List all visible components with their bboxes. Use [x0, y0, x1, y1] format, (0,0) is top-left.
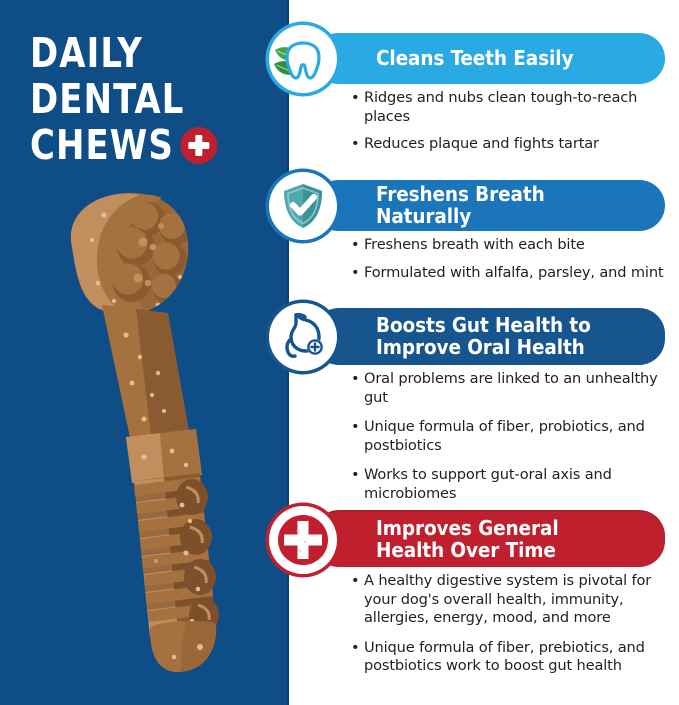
feature-title-freshens-breath: Freshens Breath Naturally	[376, 184, 645, 227]
infographic-poster: DAILY DENTAL CHEWS	[0, 0, 679, 705]
plus-icon	[181, 127, 218, 164]
feature-header-freshens-breath: Freshens Breath Naturally	[313, 180, 665, 231]
feature-title-line-2: Health Over Time	[376, 540, 559, 562]
title-line-3-wrap: CHEWS	[30, 122, 251, 168]
list-item: Works to support gut-oral axis and micro…	[351, 466, 669, 503]
list-item: Formulated with alfalfa, parsley, and mi…	[351, 264, 669, 283]
feature-bullets-cleans-teeth: Ridges and nubs clean tough-to-reach pla…	[351, 89, 669, 163]
title-line-2: DENTAL	[30, 76, 251, 122]
feature-header-improves-general-health: Improves General Health Over Time	[313, 510, 665, 567]
features-column: Cleans Teeth Easily Ridges and nubs clea…	[289, 0, 679, 705]
title-line-1: DAILY	[30, 30, 251, 76]
title-line-3: CHEWS	[30, 122, 174, 168]
stomach-plus-icon	[269, 303, 337, 371]
list-item: Reduces plaque and fights tartar	[351, 135, 669, 154]
medical-cross-icon	[269, 506, 337, 574]
chew-ridges	[134, 473, 219, 637]
list-item: Oral problems are linked to an unhealthy…	[351, 370, 669, 407]
list-item: Unique formula of fiber, probiotics, and…	[351, 418, 669, 455]
feature-header-cleans-teeth: Cleans Teeth Easily	[313, 33, 665, 84]
list-item: A healthy digestive system is pivotal fo…	[351, 572, 669, 628]
list-item: Ridges and nubs clean tough-to-reach pla…	[351, 89, 669, 126]
feature-title-boosts-gut-health: Boosts Gut Health to Improve Oral Health	[376, 315, 591, 358]
shield-check-icon	[269, 172, 337, 240]
feature-header-boosts-gut-health: Boosts Gut Health to Improve Oral Health	[313, 308, 665, 365]
dog-chew-illustration	[40, 185, 255, 685]
chew-shaft	[102, 305, 190, 447]
feature-title-line-2: Improve Oral Health	[376, 337, 591, 359]
feature-title-line-1: Boosts Gut Health to	[376, 313, 591, 337]
list-item: Freshens breath with each bite	[351, 236, 669, 255]
feature-bullets-freshens-breath: Freshens breath with each bite Formulate…	[351, 236, 669, 291]
chew-head	[71, 193, 192, 315]
tooth-mint-icon	[269, 25, 337, 93]
feature-title-line-1: Improves General	[376, 516, 559, 540]
chew-base	[150, 621, 216, 672]
feature-title-cleans-teeth: Cleans Teeth Easily	[376, 48, 573, 70]
page-title: DAILY DENTAL CHEWS	[30, 30, 251, 168]
feature-title-improves-general-health: Improves General Health Over Time	[376, 518, 559, 561]
list-item: Unique formula of fiber, prebiotics, and…	[351, 639, 669, 676]
feature-bullets-improves-general-health: A healthy digestive system is pivotal fo…	[351, 572, 669, 687]
feature-bullets-boosts-gut-health: Oral problems are linked to an unhealthy…	[351, 370, 669, 514]
